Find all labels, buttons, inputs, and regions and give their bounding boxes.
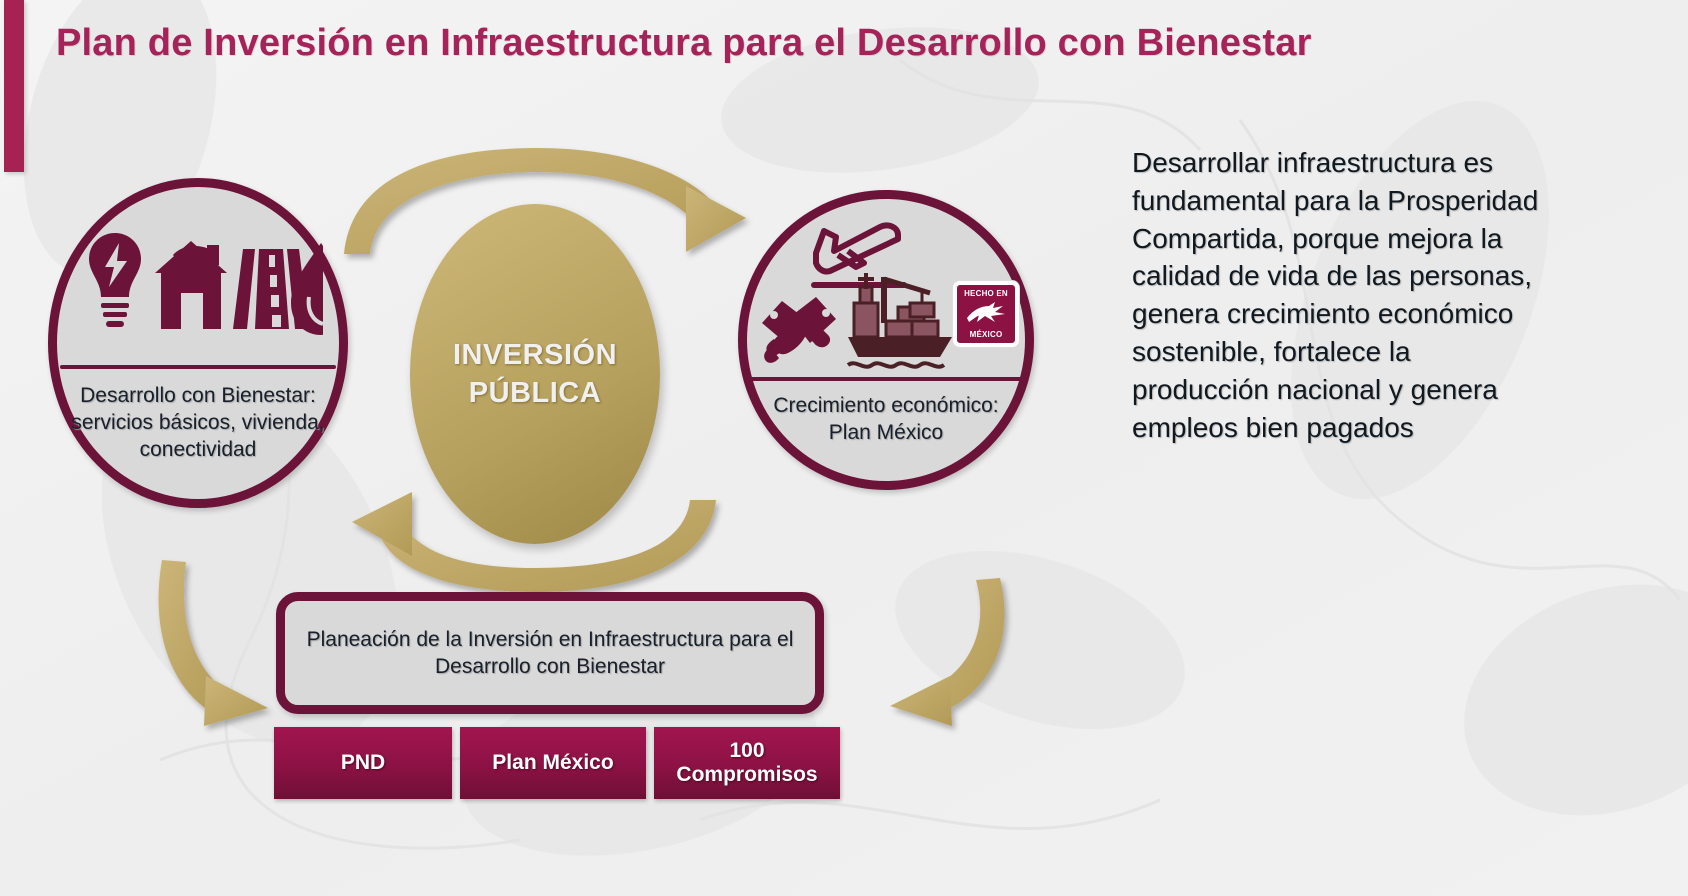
chip-plan-mexico[interactable]: Plan México — [460, 727, 646, 799]
plan-box[interactable]: Planeación de la Inversión en Infraestru… — [276, 592, 824, 714]
center-line-2: PÚBLICA — [453, 374, 617, 412]
eagle-emblem-icon — [965, 300, 1007, 329]
chip-100-compromisos[interactable]: 100 Compromisos — [654, 727, 840, 799]
node-left-icon-group — [73, 211, 323, 361]
node-crecimiento-economico[interactable]: HECHO EN MÉXICO Crecimiento económico: P… — [738, 190, 1034, 490]
handshake-icon — [762, 297, 836, 363]
chip-row: PND Plan México 100 Compromisos — [274, 727, 840, 799]
house-icon — [155, 241, 227, 329]
airplane-icon — [816, 225, 898, 271]
chip-100-compromisos-label: 100 Compromisos — [662, 739, 832, 787]
badge-bottom-text: MÉXICO — [970, 331, 1003, 339]
chip-plan-mexico-label: Plan México — [492, 751, 613, 775]
node-right-label: Crecimiento económico: Plan México — [747, 393, 1025, 447]
arrow-right-down-icon — [890, 578, 1005, 726]
page-title: Plan de Inversión en Infraestructura par… — [56, 22, 1312, 65]
center-node-inversion-publica[interactable]: INVERSIÓN PÚBLICA — [410, 204, 660, 544]
lightbulb-energy-icon — [89, 233, 141, 327]
chip-pnd-label: PND — [341, 751, 385, 775]
badge-top-text: HECHO EN — [964, 290, 1008, 298]
left-icons-svg — [73, 211, 323, 361]
hecho-en-mexico-badge-icon: HECHO EN MÉXICO — [953, 281, 1019, 347]
chip-pnd[interactable]: PND — [274, 727, 452, 799]
left-accent-bar — [4, 0, 24, 172]
center-node-label: INVERSIÓN PÚBLICA — [453, 336, 617, 413]
center-line-1: INVERSIÓN — [453, 336, 617, 374]
node-left-label: Desarrollo con Bienestar: servicios bási… — [57, 383, 339, 464]
node-desarrollo-bienestar[interactable]: Desarrollo con Bienestar: servicios bási… — [48, 178, 348, 508]
plan-box-label: Planeación de la Inversión en Infraestru… — [285, 626, 815, 681]
arrow-left-down-icon — [159, 560, 268, 726]
node-right-divider — [750, 377, 1022, 381]
side-description-text: Desarrollar infraestructura es fundament… — [1132, 144, 1542, 446]
node-left-divider — [60, 365, 336, 369]
